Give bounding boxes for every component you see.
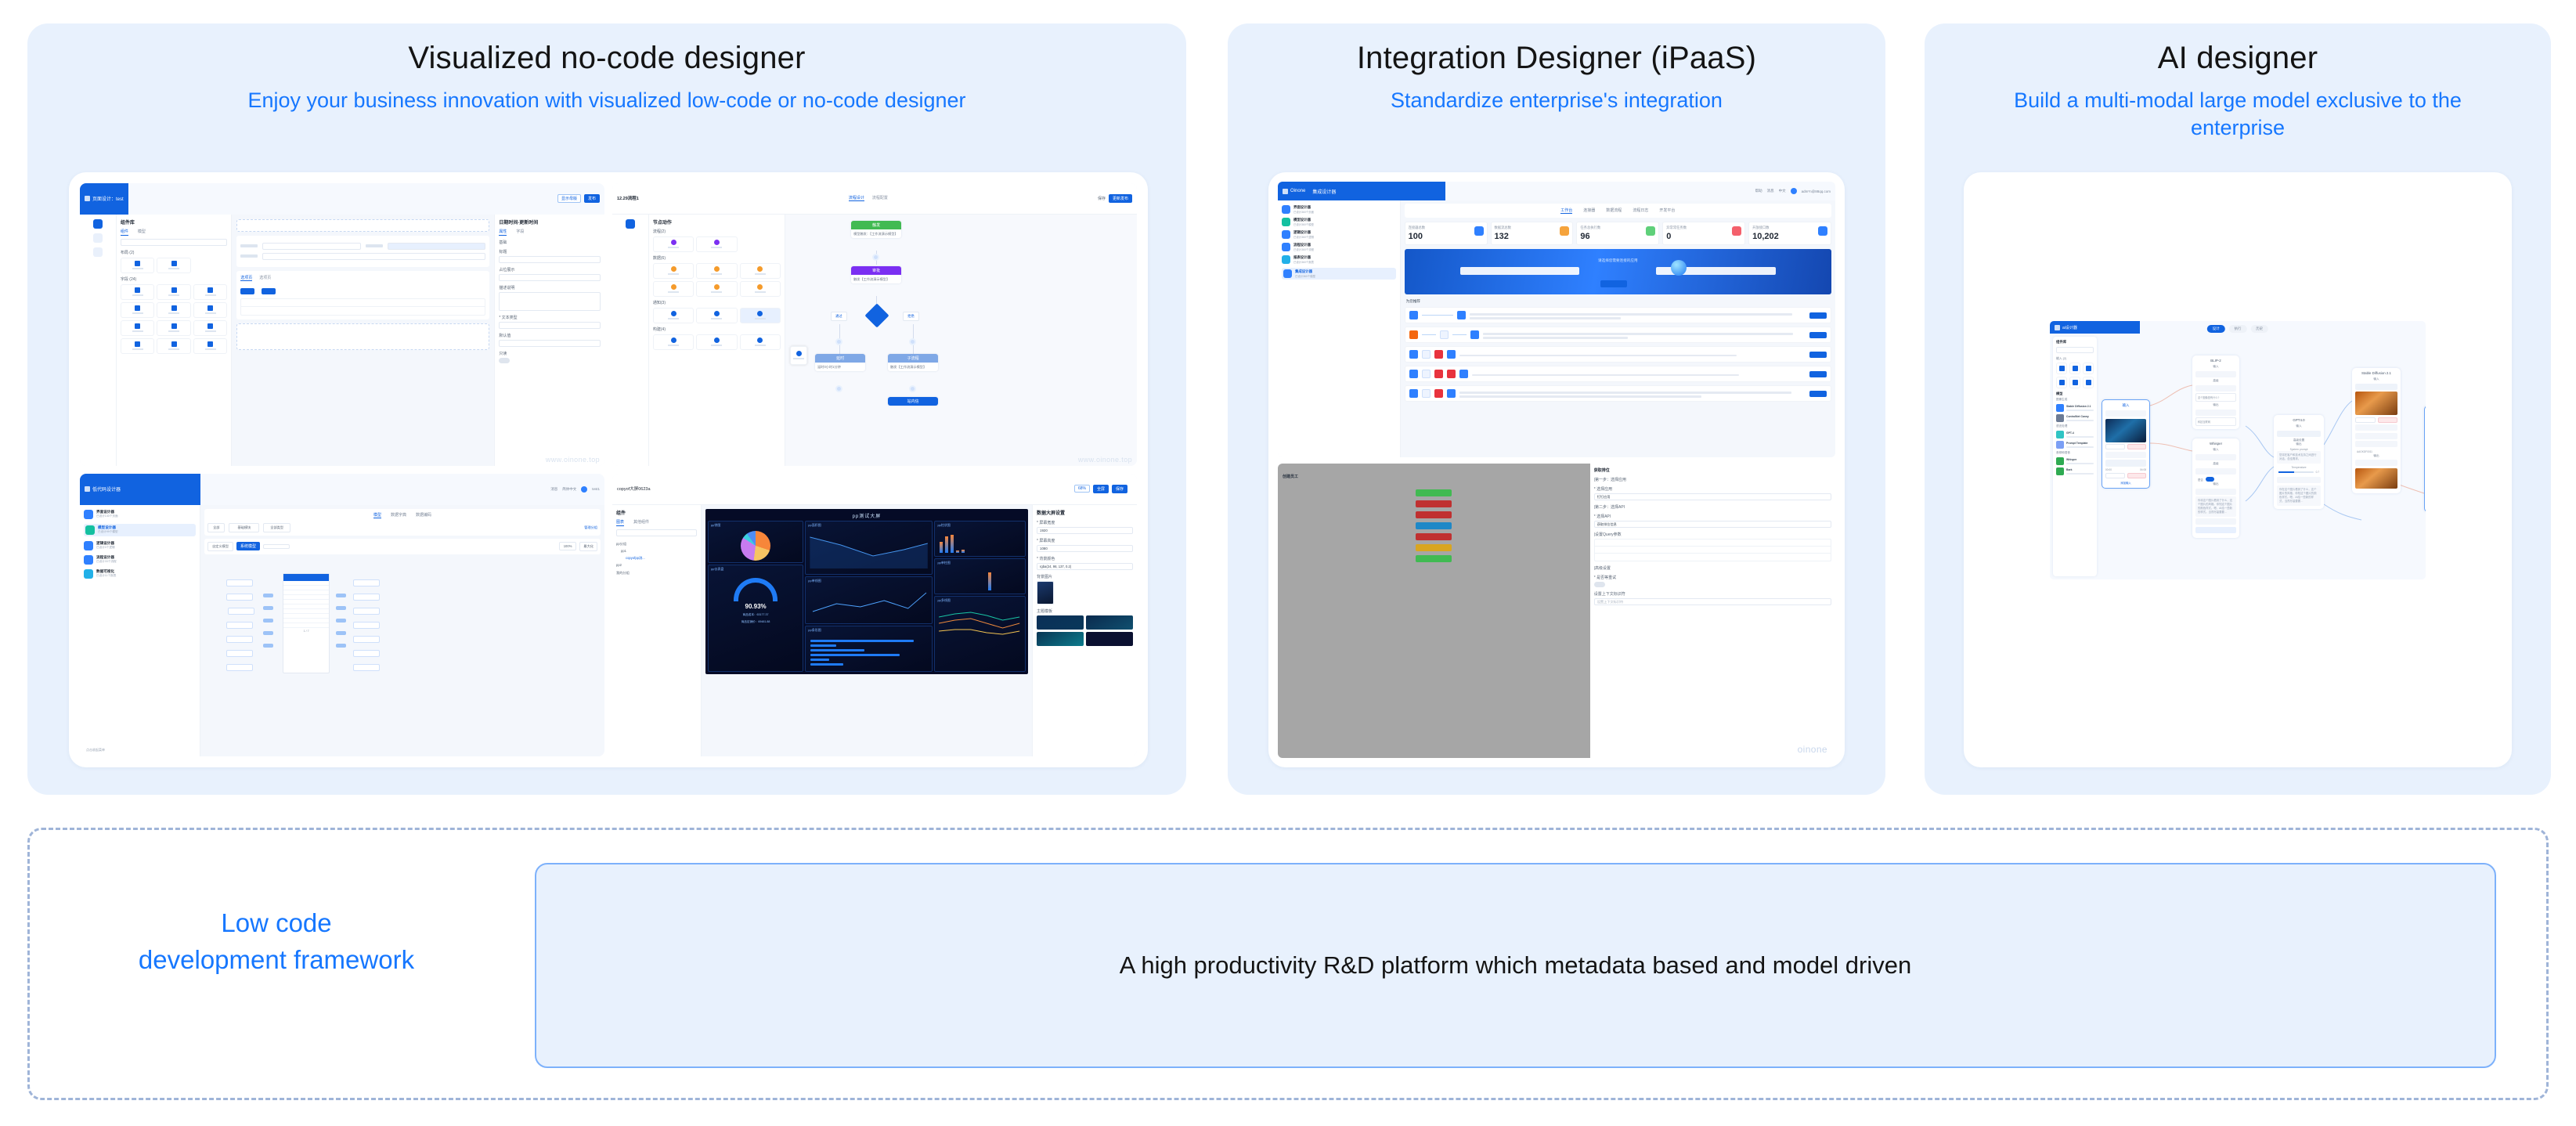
help-link[interactable]: 帮助 bbox=[1755, 189, 1762, 193]
dashboard-bar-cell[interactable]: pp柱状图 bbox=[934, 521, 1026, 557]
flow-node-create-employee[interactable] bbox=[1416, 533, 1452, 540]
node-field-seed[interactable] bbox=[2355, 441, 2397, 447]
start-connect-button[interactable] bbox=[1600, 280, 1627, 287]
recommend-row[interactable] bbox=[1405, 346, 1831, 363]
mini-bigscreen-designer[interactable]: copyof大屏0623a 68% 全屏 保存 组件 图表 bbox=[612, 474, 1137, 756]
theme-option[interactable] bbox=[1037, 615, 1084, 630]
mini-ai-designer[interactable]: ai设计器 设计 执行 历史 组件库 输入 (2) bbox=[2050, 321, 2426, 579]
oinone-icon bbox=[1459, 370, 1468, 378]
erd-entity[interactable] bbox=[353, 650, 380, 657]
screenshot-card-ai: ai设计器 设计 执行 历史 组件库 输入 (2) bbox=[1964, 172, 2512, 767]
chart-library-tabs: 图表 其他组件 bbox=[616, 519, 697, 526]
transform-icon bbox=[1440, 330, 1449, 339]
prop-label-placeholder: 占位展示 bbox=[499, 267, 601, 272]
tab-charts[interactable]: 图表 bbox=[616, 519, 624, 526]
widget-item[interactable] bbox=[193, 320, 227, 336]
widget-item[interactable] bbox=[157, 258, 190, 273]
widgets-icon[interactable] bbox=[93, 219, 103, 229]
error-icon bbox=[1732, 226, 1741, 236]
flow-node-delay[interactable]: 延时 延时0小时1分钟 bbox=[815, 354, 865, 372]
erd-entity[interactable] bbox=[226, 650, 253, 657]
zoom-control[interactable]: 68% bbox=[1074, 485, 1090, 493]
tab-design[interactable]: 设计 bbox=[2207, 325, 2225, 333]
widget-item[interactable] bbox=[193, 338, 227, 354]
layers-icon[interactable] bbox=[93, 247, 103, 257]
recommend-row[interactable] bbox=[1405, 327, 1831, 343]
flow-canvas-backdrop[interactable]: 创建员工 bbox=[1278, 464, 1590, 758]
recommend-row[interactable] bbox=[1405, 307, 1831, 323]
node-item[interactable] bbox=[653, 308, 694, 323]
node-field-height[interactable] bbox=[2355, 433, 2397, 439]
zoom-control[interactable]: 100% bbox=[559, 542, 577, 550]
node-item[interactable] bbox=[696, 281, 737, 297]
model-tabs: 模型 数据字典 数据编码 bbox=[207, 512, 597, 518]
dashboard-line-cell[interactable]: pp单线图 bbox=[805, 576, 933, 624]
node-field-audio[interactable] bbox=[2195, 454, 2236, 460]
step2-field-label: * 选择API bbox=[1594, 514, 1831, 519]
flow-node-end[interactable] bbox=[1416, 555, 1452, 562]
widget-item[interactable] bbox=[121, 284, 154, 300]
tab-option-page-1[interactable]: 选项页 bbox=[240, 275, 252, 281]
query-params-table bbox=[1594, 539, 1831, 561]
flow-node-subflow[interactable]: 子流程 触发【工作流演示模型】 bbox=[888, 354, 938, 372]
node-field-width[interactable] bbox=[2355, 424, 2397, 431]
temperature-slider-row[interactable]: 0.7 bbox=[2277, 469, 2321, 475]
language-selector[interactable]: 简体中文 bbox=[562, 487, 576, 492]
app-select-left[interactable] bbox=[1460, 267, 1580, 275]
low-code-framework-label: Low code development framework bbox=[73, 905, 480, 979]
delete-button[interactable] bbox=[2127, 444, 2147, 449]
tab-field[interactable]: 字段 bbox=[516, 229, 524, 236]
prop-input-default[interactable] bbox=[499, 340, 601, 347]
menu-item-page-designer[interactable]: 界面设计器 已设计140个页面 bbox=[84, 510, 196, 519]
flow-node-trigger[interactable]: 触发 模型触发：【工作流演示模型】 bbox=[851, 221, 901, 239]
properties-title: 日期时间-更新时间 bbox=[499, 218, 601, 226]
theme-option[interactable] bbox=[1086, 632, 1133, 646]
prop-toggle-readonly[interactable] bbox=[499, 358, 510, 363]
dashboard-pie-cell[interactable]: pp饼图 bbox=[708, 521, 803, 563]
erd-entity[interactable] bbox=[353, 664, 380, 671]
language-selector[interactable]: 中文 bbox=[1779, 189, 1786, 193]
widget-item[interactable] bbox=[193, 302, 227, 318]
start-connect-button[interactable] bbox=[1809, 312, 1827, 319]
tree-item[interactable]: pp分组 bbox=[616, 540, 697, 547]
panel-subtitle-ipaas: Standardize enterprise's integration bbox=[1228, 87, 1885, 114]
erd-entity[interactable] bbox=[226, 664, 253, 671]
translate-toggle[interactable] bbox=[2206, 477, 2214, 482]
ai-node-whisper[interactable]: Whisper 输入 高级 是否 输出 你将这个图片看到了什么，这个图片 bbox=[2192, 438, 2239, 538]
ai-node-gpt4[interactable]: GPT4.0 输入 高级设置 输出 System prompt 您将在客户和技术… bbox=[2274, 415, 2324, 509]
menu-item-flow-designer[interactable]: 流程设计器 已设计33个流程 bbox=[84, 555, 196, 565]
node-item[interactable] bbox=[740, 334, 781, 350]
erd-entity[interactable] bbox=[226, 622, 253, 629]
mini-workflow-designer[interactable]: 12.29流程1 流程设计 流程配置 保存 更新发布 bbox=[612, 183, 1137, 466]
dashboard-area-cell[interactable]: pp面积图 bbox=[805, 521, 933, 575]
ipaas-topbar: Oinone 集成设计器 帮助 消息 中文 adm*n@88qq.com bbox=[1278, 182, 1835, 200]
flow-node-add-data[interactable] bbox=[1416, 544, 1452, 551]
tab-execute[interactable]: 执行 bbox=[2229, 325, 2247, 333]
publish-update-button[interactable]: 更新发布 bbox=[1109, 194, 1132, 203]
node-item[interactable] bbox=[653, 263, 694, 279]
advanced-section-label: |高级设置 bbox=[1594, 565, 1831, 571]
erd-entity[interactable] bbox=[226, 594, 253, 601]
oinone-logo-icon bbox=[1283, 189, 1288, 194]
context-input[interactable]: 设置上下文标识符 bbox=[1594, 598, 1831, 605]
erd-relation-tag bbox=[336, 644, 346, 648]
temperature-slider[interactable] bbox=[2278, 471, 2314, 473]
node-output-text-seg[interactable] bbox=[2277, 477, 2321, 483]
recommend-text bbox=[1472, 372, 1806, 376]
transform-icon bbox=[1422, 350, 1431, 359]
start-connect-button[interactable] bbox=[1809, 371, 1827, 377]
system-prompt-value[interactable]: 您将在客户和技术支持之间进行对话，总结需求。 bbox=[2277, 451, 2321, 464]
prop-label-bgimage: 背景图片 bbox=[1037, 574, 1133, 579]
prop-select-texttype[interactable] bbox=[499, 322, 601, 329]
flow-branch-diamond[interactable] bbox=[865, 303, 889, 327]
flow-node-approve[interactable]: 审批 触发【工作流演示模型】 bbox=[851, 266, 901, 284]
replace-button[interactable] bbox=[2105, 473, 2125, 478]
erd-entity[interactable] bbox=[226, 636, 253, 643]
fullscreen-button[interactable]: 全屏 bbox=[1093, 485, 1109, 493]
widget-item[interactable] bbox=[121, 338, 154, 354]
model-relation-canvas[interactable]: 自定义模型 系统模型 100% 最大化 bbox=[204, 539, 601, 554]
save-button[interactable]: 保存 bbox=[1098, 196, 1106, 201]
chart-library-panel: 组件 图表 其他组件 pp分组 pp1 copyofpp测... bbox=[612, 505, 702, 756]
tab-flow-config[interactable]: 流程配置 bbox=[872, 195, 888, 201]
menu-item-logic-designer[interactable]: 逻辑设计器 已设计0个逻辑 bbox=[84, 541, 196, 550]
low-code-framework-section: Low code development framework A high pr… bbox=[27, 828, 2549, 1100]
bigscreen-tree: pp分组 pp1 copyofpp测... pp2 我的分组 bbox=[616, 540, 697, 576]
prop-input-title[interactable] bbox=[499, 256, 601, 263]
widget-item[interactable] bbox=[121, 302, 154, 318]
table-row[interactable] bbox=[1595, 547, 1831, 554]
filter-module[interactable]: 基础模块 bbox=[229, 523, 259, 532]
cell-header: pp单柱图 bbox=[935, 559, 1025, 567]
ai-node-input[interactable]: 输入 00:00 04:08 添加输入 bbox=[2102, 399, 2150, 489]
tab-workbench[interactable]: 工作台 bbox=[1560, 208, 1572, 214]
recommend-row[interactable] bbox=[1405, 366, 1831, 382]
panel-title-ai: AI designer bbox=[1925, 23, 2551, 76]
add-node-icon[interactable] bbox=[835, 338, 842, 345]
table-row[interactable] bbox=[241, 307, 485, 315]
kpi-card[interactable]: 异常常任务数 0 bbox=[1662, 222, 1745, 245]
tab-components[interactable]: 组件 bbox=[121, 229, 128, 236]
dingtalk-icon bbox=[1409, 311, 1418, 319]
node-item[interactable] bbox=[696, 263, 737, 279]
dingtalk-icon bbox=[1409, 350, 1418, 359]
delete-button[interactable] bbox=[2378, 417, 2398, 423]
node-output-value[interactable]: 科技互联网 bbox=[2195, 417, 2236, 426]
page-designer-icon bbox=[84, 510, 93, 519]
screenshot-card-ipaas: Oinone 集成设计器 帮助 消息 中文 adm*n@88qq.com bbox=[1268, 172, 1845, 767]
model-search-input[interactable] bbox=[263, 544, 290, 549]
group-label-notify: 通知(3) bbox=[653, 300, 781, 305]
tab-model[interactable]: 模型 bbox=[373, 512, 381, 518]
node-field-image[interactable] bbox=[2195, 371, 2236, 377]
widget-search-input[interactable] bbox=[121, 239, 227, 246]
gauge-value: 90.93% bbox=[709, 603, 803, 610]
step2-label: |第二步：选择API bbox=[1594, 504, 1831, 510]
prop-input-width[interactable]: 1920 bbox=[1037, 527, 1133, 534]
dashboard-singlebar-cell[interactable]: pp单柱图 bbox=[934, 558, 1026, 594]
tab-coding[interactable]: 数据编码 bbox=[416, 512, 431, 518]
kpi-card[interactable]: 数据流总数 132 bbox=[1491, 222, 1574, 245]
kpi-card[interactable]: 开放接口数 10,202 bbox=[1748, 222, 1831, 245]
node-palette-icon[interactable] bbox=[626, 219, 635, 229]
tab-dictionary[interactable]: 数据字典 bbox=[391, 512, 406, 518]
tab-attributes[interactable]: 属性 bbox=[499, 229, 507, 236]
workflow-tabs: 流程设计 流程配置 bbox=[849, 195, 888, 201]
maximize-button[interactable]: 最大化 bbox=[579, 542, 597, 551]
menu-item-model-designer[interactable]: 模型设计器 已设计360个模型 bbox=[1282, 218, 1396, 226]
tree-item[interactable]: pp2 bbox=[616, 561, 697, 568]
field-input[interactable] bbox=[262, 253, 485, 260]
kpi-value: 0 bbox=[1666, 232, 1741, 241]
delete-button[interactable] bbox=[240, 288, 254, 294]
theme-option[interactable] bbox=[1037, 632, 1084, 646]
node-field-prompt[interactable] bbox=[2195, 385, 2236, 392]
connect-hero-banner[interactable]: 请选择您需要连接的应用 bbox=[1405, 249, 1831, 294]
mini-integration-flow[interactable]: 创建员工 bbox=[1278, 464, 1835, 758]
erd-pagination[interactable]: 1 / 7 bbox=[283, 628, 329, 633]
mini-integration-workbench[interactable]: Oinone 集成设计器 帮助 消息 中文 adm*n@88qq.com bbox=[1278, 182, 1835, 457]
show-master-button[interactable]: 显示母版 bbox=[557, 194, 581, 203]
node-item[interactable] bbox=[653, 334, 694, 350]
node-field-translated-text[interactable] bbox=[2195, 489, 2236, 495]
erd-relation-tag bbox=[336, 631, 346, 635]
replace-button[interactable] bbox=[2355, 417, 2376, 423]
tree-item[interactable]: pp1 bbox=[616, 547, 697, 554]
tab-models[interactable]: 模型 bbox=[138, 229, 146, 236]
recommend-text bbox=[1470, 311, 1806, 319]
panel-title-nocode: Visualized no-code designer bbox=[27, 23, 1186, 76]
data-visualization-icon bbox=[84, 569, 93, 579]
ipaas-topright: 帮助 消息 中文 adm*n@88qq.com bbox=[1755, 188, 1835, 194]
manage-groups-link[interactable]: 管理分组 bbox=[584, 525, 597, 530]
flow-node-inmail[interactable]: 站内信 bbox=[888, 397, 938, 406]
prop-input-bgcolor[interactable]: rgba(24, 98, 137, 0.2) bbox=[1037, 563, 1133, 570]
node-field-text[interactable] bbox=[2195, 410, 2236, 416]
tree-item[interactable]: copyofpp测... bbox=[616, 554, 697, 561]
recommend-text bbox=[1483, 330, 1806, 338]
tab-option-page-2[interactable]: 选项页 bbox=[259, 275, 271, 281]
tab-connector[interactable]: 连接器 bbox=[1583, 208, 1595, 214]
add-node-icon[interactable] bbox=[835, 385, 842, 392]
node-section-input: 输入 bbox=[2195, 448, 2236, 452]
field-input[interactable] bbox=[262, 243, 361, 250]
widget-item[interactable] bbox=[157, 338, 190, 354]
node-field-translate[interactable] bbox=[2195, 468, 2236, 475]
add-node-icon[interactable] bbox=[909, 385, 916, 392]
add-input-link[interactable]: 添加输入 bbox=[2105, 481, 2146, 485]
prop-input-placeholder[interactable] bbox=[499, 274, 601, 281]
form-row bbox=[240, 243, 485, 250]
node-output-translate[interactable] bbox=[2195, 527, 2236, 533]
filter-type[interactable]: 全部类型 bbox=[263, 523, 290, 532]
flow-node-get-departments[interactable] bbox=[1416, 511, 1452, 518]
widget-item[interactable] bbox=[193, 284, 227, 300]
delete-button[interactable] bbox=[2127, 473, 2147, 478]
node-field-text[interactable] bbox=[2277, 431, 2321, 437]
node-item[interactable] bbox=[653, 236, 694, 252]
avatar[interactable] bbox=[581, 486, 587, 493]
workflow-canvas[interactable]: 触发 模型触发：【工作流演示模型】 审批 触发【工作流演示模型】 bbox=[785, 215, 1137, 466]
start-connect-button[interactable] bbox=[1809, 332, 1827, 338]
node-field-audio[interactable] bbox=[2105, 452, 2146, 458]
kpi-card[interactable]: 任务总执行数 96 bbox=[1576, 222, 1659, 245]
node-field-image[interactable] bbox=[2105, 410, 2146, 417]
prop-input-description[interactable] bbox=[499, 292, 601, 311]
tab-history[interactable]: 历史 bbox=[2250, 325, 2268, 333]
node-field-image[interactable] bbox=[2355, 384, 2397, 390]
table-row[interactable] bbox=[1595, 554, 1831, 561]
model-designer-icon bbox=[85, 525, 95, 535]
widget-item[interactable] bbox=[121, 258, 154, 273]
user-name[interactable]: test1 bbox=[592, 487, 600, 491]
ai-node-blip2[interactable]: BLIP-2 输入 高级 这个图像是有什么? 输出 科技互联网 bbox=[2192, 355, 2239, 429]
erd-entity[interactable] bbox=[353, 636, 380, 643]
widget-item[interactable] bbox=[157, 302, 190, 318]
tree-item[interactable]: 我的分组 bbox=[616, 569, 697, 576]
erd-focused-entity[interactable]: 1 / 7 bbox=[283, 573, 330, 673]
screenshot-card-nocode: 页面设计：test 显示母版 发布 bbox=[69, 172, 1148, 767]
dashboard-gauge-cell[interactable]: pp仪表盘 90.93% 商品成本：63177.37 商品定销价：69481.8… bbox=[708, 565, 803, 672]
widget-item[interactable] bbox=[157, 320, 190, 336]
recommend-row[interactable] bbox=[1405, 385, 1831, 402]
menu-item-report-designer[interactable]: 报表设计器 已设计360个报表 bbox=[1282, 255, 1396, 264]
erd-entity[interactable] bbox=[353, 579, 380, 586]
tab-table-card: 选项页 选项页 bbox=[236, 271, 489, 319]
menu-item-model-designer[interactable]: 模型设计器 已设计99个模型 bbox=[84, 524, 196, 536]
add-node-icon[interactable] bbox=[872, 254, 879, 261]
node-item-selected[interactable] bbox=[740, 308, 781, 323]
kpi-label: 数据流总数 bbox=[1495, 226, 1570, 230]
retry-toggle[interactable] bbox=[1594, 582, 1605, 587]
node-image-actions bbox=[2355, 417, 2397, 423]
erd-entity[interactable] bbox=[353, 608, 380, 615]
ai-node-output[interactable]: 输出 互联网技术是指以计算机技术的基础上，开发建立的一种信息技术。互联网技术通过… bbox=[2424, 406, 2426, 512]
cell-header: pp柱状图 bbox=[935, 521, 1025, 529]
messages-link[interactable]: 消息 bbox=[1767, 189, 1774, 193]
node-item[interactable] bbox=[653, 281, 694, 297]
field-label bbox=[240, 244, 258, 247]
widget-item[interactable] bbox=[121, 320, 154, 336]
node-item[interactable] bbox=[696, 236, 737, 252]
step1-select[interactable]: 钉钉应用 bbox=[1594, 493, 1831, 500]
ai-canvas[interactable]: 组件库 输入 (2) 模型 bbox=[2050, 334, 2426, 579]
user-email[interactable]: adm*n@88qq.com bbox=[1802, 189, 1831, 193]
dashboard-hbar-cell[interactable]: pp条形图 bbox=[805, 626, 933, 672]
tab-flow-design[interactable]: 流程设计 bbox=[849, 195, 864, 201]
theme-option[interactable] bbox=[1086, 615, 1133, 630]
erd-entity[interactable] bbox=[226, 579, 253, 586]
start-connect-button[interactable] bbox=[1809, 352, 1827, 358]
create-button[interactable] bbox=[262, 288, 276, 294]
replace-button[interactable] bbox=[2105, 444, 2125, 449]
flow-node-trigger[interactable] bbox=[1416, 489, 1452, 496]
actions-icon[interactable] bbox=[93, 233, 103, 243]
collapse-menu-button[interactable]: 点击收起菜单 bbox=[86, 748, 105, 752]
bigscreen-canvas[interactable]: pp测试大屏 pp饼图 pp仪表盘 bbox=[702, 505, 1032, 756]
widget-item[interactable] bbox=[157, 284, 190, 300]
erd-entity[interactable] bbox=[228, 608, 254, 615]
filter-all[interactable]: 全部 bbox=[207, 523, 225, 532]
integration-designer-icon bbox=[1283, 269, 1292, 278]
mini-model-designer[interactable]: 低代码设计器 消息 简体中文 test1 bbox=[80, 474, 604, 756]
bg-image-thumb[interactable] bbox=[1037, 581, 1054, 605]
menu-item-page-designer[interactable]: 界面设计器 已设计360个页面 bbox=[1282, 205, 1396, 214]
erd-entity[interactable] bbox=[353, 622, 380, 629]
node-item[interactable] bbox=[740, 281, 781, 297]
publish-button[interactable]: 发布 bbox=[584, 194, 600, 203]
kpi-value: 100 bbox=[1409, 232, 1484, 241]
ipaas-menu: 界面设计器 已设计360个页面 模型设计器 已设计360个模型 bbox=[1278, 200, 1401, 457]
cell-header: pp条形图 bbox=[806, 626, 932, 634]
node-prompt-value[interactable]: 这个图像是有什么? bbox=[2195, 393, 2236, 402]
save-button[interactable]: 保存 bbox=[1112, 485, 1127, 493]
erd-entity[interactable] bbox=[353, 594, 380, 601]
panel-ai-designer: AI designer Build a multi-modal large mo… bbox=[1925, 23, 2551, 795]
action-dropzone[interactable] bbox=[236, 219, 489, 232]
menu-item-flow-designer[interactable]: 流程设计器 已设计360个流程 bbox=[1282, 243, 1396, 251]
chart-search-input[interactable] bbox=[616, 529, 697, 536]
crm-icon bbox=[1434, 389, 1443, 398]
flow-node-loop[interactable] bbox=[1416, 522, 1452, 529]
tab-system-model[interactable]: 系统模型 bbox=[236, 542, 260, 550]
tab-other-components[interactable]: 其他组件 bbox=[633, 519, 649, 526]
prop-input-height[interactable]: 1080 bbox=[1037, 545, 1133, 552]
dragging-node-ghost[interactable] bbox=[790, 346, 807, 365]
start-connect-button[interactable] bbox=[1809, 391, 1827, 397]
tab-dataflow[interactable]: 数据流程 bbox=[1606, 208, 1622, 214]
menu-item-logic-designer[interactable]: 逻辑设计器 已设计360个逻辑 bbox=[1282, 230, 1396, 239]
tab-flowlog[interactable]: 流程日志 bbox=[1633, 208, 1648, 214]
step2-select[interactable]: 获取排位信息 bbox=[1594, 521, 1831, 528]
node-output-image-seg[interactable] bbox=[2355, 460, 2397, 466]
mini-page-designer[interactable]: 页面设计：test 显示母版 发布 bbox=[80, 183, 604, 466]
ipaas-tabs: 工作台 连接器 数据流程 流程日志 开发平台 bbox=[1405, 204, 1831, 218]
group-items-build bbox=[653, 334, 781, 350]
page-designer-canvas[interactable]: 选项页 选项页 bbox=[232, 215, 494, 466]
node-section-advanced: 高级 bbox=[2195, 379, 2236, 383]
model-designer-brand: 低代码设计器 bbox=[80, 474, 200, 505]
node-item[interactable] bbox=[696, 308, 737, 323]
ai-node-stable-diffusion[interactable]: Stable Diffusion 2.1 输入 AAGKDF0011 输出 bbox=[2352, 368, 2401, 493]
flow-node-get-rank[interactable] bbox=[1416, 500, 1452, 507]
kpi-value: 132 bbox=[1495, 232, 1570, 241]
add-node-icon[interactable] bbox=[909, 338, 916, 345]
field-input-selected[interactable] bbox=[388, 243, 486, 250]
menu-item-integration-designer[interactable]: 集成设计器 已设计360个模型 bbox=[1282, 268, 1396, 280]
table-header-row bbox=[1595, 540, 1831, 547]
tab-custom-model[interactable]: 自定义模型 bbox=[207, 542, 233, 551]
node-item[interactable] bbox=[740, 263, 781, 279]
flow-designer-icon bbox=[1282, 243, 1290, 251]
model-designer-topbar: 低代码设计器 消息 简体中文 test1 bbox=[80, 474, 604, 505]
tab-devplatform[interactable]: 开发平台 bbox=[1659, 208, 1675, 214]
form-dropzone[interactable] bbox=[236, 323, 489, 350]
back-icon[interactable] bbox=[85, 196, 90, 201]
menu-item-data-visualization[interactable]: 数据可视化 已设计11个报表 bbox=[84, 569, 196, 579]
messages-link[interactable]: 消息 bbox=[550, 487, 557, 492]
cell-header: pp饼图 bbox=[709, 521, 803, 529]
node-output-audio[interactable] bbox=[2195, 518, 2236, 525]
node-item[interactable] bbox=[696, 334, 737, 350]
avatar[interactable] bbox=[1791, 188, 1797, 194]
kpi-card[interactable]: 连接器总数 100 bbox=[1405, 222, 1488, 245]
panel-subtitle-nocode: Enjoy your business innovation with visu… bbox=[27, 87, 1186, 114]
dashboard-multiline-cell[interactable]: pp多线图 bbox=[934, 596, 1026, 672]
